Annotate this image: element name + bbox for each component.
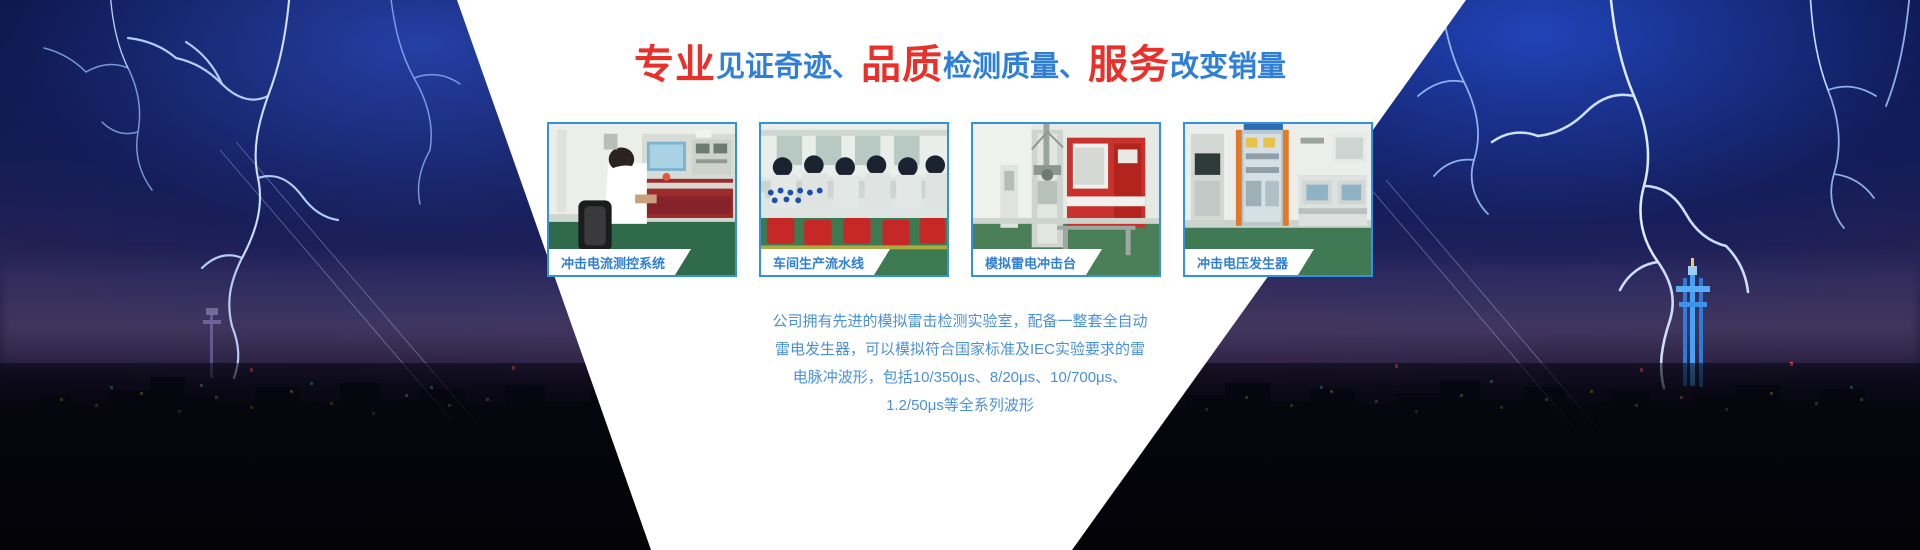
photo-card-caption: 模拟雷电冲击台 [973,249,1102,275]
headline: 专业见证奇迹、品质检测质量、服务改变销量 [0,45,1920,85]
headline-segment-4: 检测质量、 [943,51,1088,83]
photo-card[interactable]: 车间生产流水线 [759,122,949,277]
promo-banner: 专业见证奇迹、品质检测质量、服务改变销量 [0,0,1920,550]
headline-segment-1: 专业 [634,43,716,87]
description-paragraph: 公司拥有先进的模拟雷击检测实验室，配备一整套全自动 雷电发生器，可以模拟符合国家… [0,308,1920,420]
photo-card[interactable]: 冲击电压发生器 [1183,122,1373,277]
headline-segment-6: 改变销量 [1170,51,1286,83]
headline-segment-5: 服务 [1088,43,1170,87]
photo-card-caption: 车间生产流水线 [761,249,890,275]
paragraph-line: 公司拥有先进的模拟雷击检测实验室，配备一整套全自动 [0,308,1920,336]
photo-card-list: 冲击电流测控系统 [0,122,1920,277]
photo-card-caption: 冲击电流测控系统 [549,249,691,275]
photo-card[interactable]: 冲击电流测控系统 [547,122,737,277]
headline-segment-2: 见证奇迹、 [716,51,861,83]
paragraph-line: 雷电发生器，可以模拟符合国家标准及IEC实验要求的雷 [0,336,1920,364]
photo-card[interactable]: 模拟雷电冲击台 [971,122,1161,277]
paragraph-line: 电脉冲波形，包括10/350μs、8/20μs、10/700μs、 [0,364,1920,392]
photo-card-caption: 冲击电压发生器 [1185,249,1314,275]
paragraph-line: 1.2/50μs等全系列波形 [0,392,1920,420]
headline-segment-3: 品质 [861,43,943,87]
